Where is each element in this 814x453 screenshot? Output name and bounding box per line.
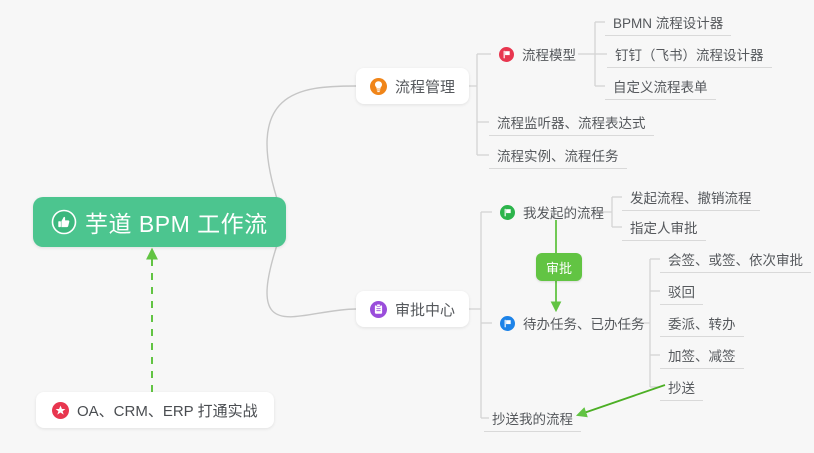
annotation-approval-badge-label: 审批 <box>546 258 572 277</box>
thumbs-up-icon <box>51 209 77 235</box>
leaf-add-remove-sign-label: 加签、减签 <box>668 345 736 365</box>
annotation-integration-callout-label: OA、CRM、ERP 打通实战 <box>77 400 258 421</box>
leaf-start-cancel-process[interactable]: 发起流程、撤销流程 <box>622 183 760 211</box>
node-process-model-label: 流程模型 <box>522 44 576 64</box>
leaf-bpmn-designer[interactable]: BPMN 流程设计器 <box>605 8 731 36</box>
annotation-approval-badge: 审批 <box>536 253 582 281</box>
leaf-assigned-approval[interactable]: 指定人审批 <box>622 213 706 241</box>
leaf-dingtalk-designer[interactable]: 钉钉（飞书）流程设计器 <box>607 40 772 68</box>
leaf-reject-label: 驳回 <box>668 281 695 301</box>
leaf-cc-my-processes[interactable]: 抄送我的流程 <box>484 404 581 432</box>
leaf-assigned-approval-label: 指定人审批 <box>630 217 698 237</box>
root-label: 芋道 BPM 工作流 <box>85 205 268 239</box>
leaf-start-cancel-process-label: 发起流程、撤销流程 <box>630 187 752 207</box>
flag-circle-icon <box>500 316 515 331</box>
connector-root-to-process-management <box>267 86 356 208</box>
lightbulb-icon <box>370 78 387 95</box>
node-my-processes-label: 我发起的流程 <box>523 202 604 222</box>
leaf-bpmn-designer-label: BPMN 流程设计器 <box>613 12 723 32</box>
leaf-cc-my-processes-label: 抄送我的流程 <box>492 408 573 428</box>
root-node[interactable]: 芋道 BPM 工作流 <box>33 197 286 247</box>
node-todo-done-tasks[interactable]: 待办任务、已办任务 <box>492 309 653 337</box>
node-my-processes[interactable]: 我发起的流程 <box>492 198 612 226</box>
connector-root-to-approval-center <box>267 236 356 317</box>
leaf-reject[interactable]: 驳回 <box>660 277 703 305</box>
leaf-custom-form[interactable]: 自定义流程表单 <box>605 72 716 100</box>
leaf-delegate-transfer[interactable]: 委派、转办 <box>660 309 744 337</box>
node-process-model[interactable]: 流程模型 <box>491 40 584 68</box>
leaf-delegate-transfer-label: 委派、转办 <box>668 313 736 333</box>
leaf-countersign-label: 会签、或签、依次审批 <box>668 249 803 269</box>
node-todo-done-tasks-label: 待办任务、已办任务 <box>523 313 645 333</box>
branch-approval-center-label: 审批中心 <box>395 299 455 320</box>
leaf-dingtalk-designer-label: 钉钉（飞书）流程设计器 <box>615 44 764 64</box>
leaf-listener-expression[interactable]: 流程监听器、流程表达式 <box>489 108 654 136</box>
leaf-countersign[interactable]: 会签、或签、依次审批 <box>660 245 811 273</box>
leaf-add-remove-sign[interactable]: 加签、减签 <box>660 341 744 369</box>
branch-process-management-label: 流程管理 <box>395 76 455 97</box>
annotation-integration-callout[interactable]: OA、CRM、ERP 打通实战 <box>36 392 274 428</box>
leaf-cc[interactable]: 抄送 <box>660 373 703 401</box>
branch-approval-center[interactable]: 审批中心 <box>356 291 469 327</box>
leaf-cc-label: 抄送 <box>668 377 695 397</box>
leaf-custom-form-label: 自定义流程表单 <box>613 76 708 96</box>
mindmap-canvas: 芋道 BPM 工作流 流程管理 流程模型 BPMN 流程设计器 钉钉（飞书 <box>0 0 814 453</box>
arrow-cc-to-cc-processes <box>578 385 665 415</box>
clipboard-circle-icon <box>370 301 387 318</box>
leaf-instance-task-label: 流程实例、流程任务 <box>497 145 619 165</box>
leaf-listener-expression-label: 流程监听器、流程表达式 <box>497 112 646 132</box>
leaf-instance-task[interactable]: 流程实例、流程任务 <box>489 141 627 169</box>
flag-circle-icon <box>499 47 514 62</box>
star-circle-icon <box>52 402 69 419</box>
branch-process-management[interactable]: 流程管理 <box>356 68 469 104</box>
flag-circle-icon <box>500 205 515 220</box>
